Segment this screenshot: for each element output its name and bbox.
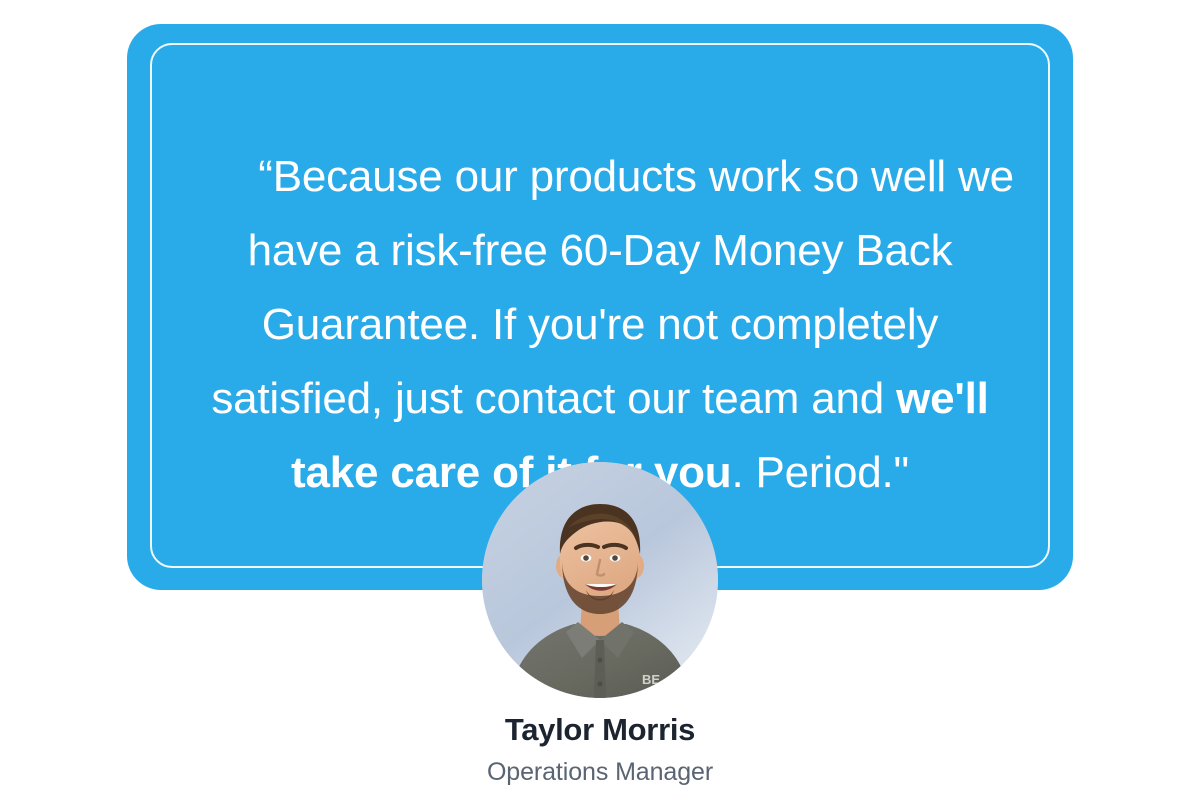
svg-text:BE: BE: [642, 672, 660, 687]
quote-tail-text: . Period.": [731, 448, 908, 497]
avatar-illustration: BE: [482, 462, 718, 698]
person-role: Operations Manager: [0, 758, 1200, 787]
testimonial-stage: “Because our products work so well we ha…: [0, 0, 1200, 812]
person-photo-avatar: BE: [482, 462, 718, 698]
person-name: Taylor Morris: [0, 712, 1200, 748]
